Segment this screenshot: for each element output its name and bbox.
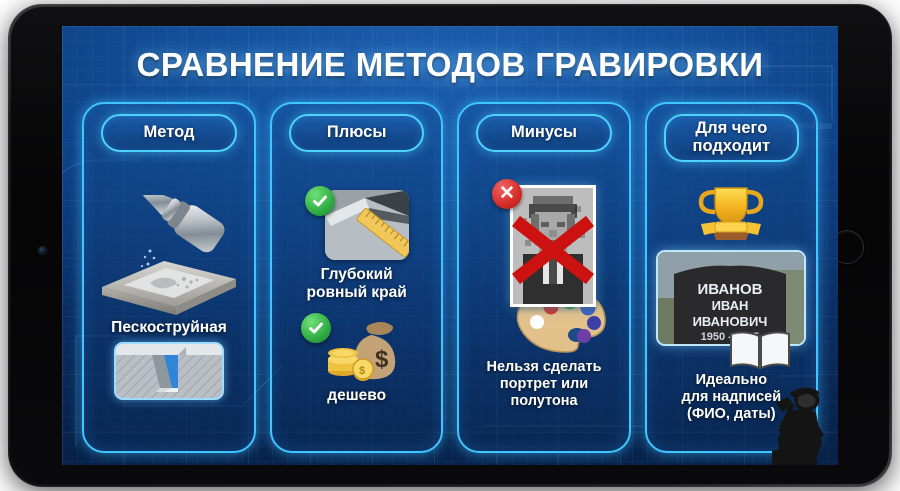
card-method[interactable]: Метод xyxy=(82,102,256,453)
tablet-screen: СРАВНЕНИЕ МЕТОДОВ ГРАВИРОВКИ Метод xyxy=(62,26,838,465)
pro-2-label: дешево xyxy=(327,387,386,405)
svg-text:ИВАНОВИЧ: ИВАНОВИЧ xyxy=(693,314,768,329)
card-body-cons: ✕ xyxy=(465,152,622,443)
card-body-pros: Глубокийровный край $ xyxy=(278,152,435,443)
method-label: Пескоструйная xyxy=(111,319,227,337)
ruler-edge-icon xyxy=(325,190,409,260)
card-header-cons: Минусы xyxy=(476,114,611,152)
pro-1-label: Глубокийровный край xyxy=(307,266,407,303)
camera-dot-icon xyxy=(39,247,46,254)
trophy-icon xyxy=(693,182,769,246)
page-title: СРАВНЕНИЕ МЕТОДОВ ГРАВИРОВКИ xyxy=(62,46,838,84)
svg-text:ИВАН: ИВАН xyxy=(712,298,749,313)
groove-cross-section-icon xyxy=(114,342,224,400)
card-header-best-for: Для чегоподходит xyxy=(664,114,799,162)
stonemason-logo xyxy=(754,373,832,465)
check-icon xyxy=(301,313,331,343)
sandblast-nozzle-icon xyxy=(90,195,248,315)
card-cons[interactable]: Минусы ✕ xyxy=(457,102,630,453)
card-pros[interactable]: Плюсы xyxy=(270,102,443,453)
money-bag-icon: $ xyxy=(325,315,413,381)
svg-text:$: $ xyxy=(375,346,389,373)
svg-text:ИВАНОВ: ИВАНОВ xyxy=(698,281,763,298)
open-book-icon xyxy=(727,328,793,372)
comparison-table: Метод xyxy=(82,102,818,453)
screenshot-root: СРАВНЕНИЕ МЕТОДОВ ГРАВИРОВКИ Метод xyxy=(0,0,900,491)
red-cross-overlay-icon xyxy=(506,213,600,287)
con-1-label: Нельзя сделатьпортрет илиполутона xyxy=(487,359,602,410)
svg-text:$: $ xyxy=(359,365,365,377)
card-body-method: Пескоструйная xyxy=(90,152,248,443)
x-icon: ✕ xyxy=(492,179,522,209)
tablet-device: СРАВНЕНИЕ МЕТОДОВ ГРАВИРОВКИ Метод xyxy=(8,4,892,487)
card-header-method: Метод xyxy=(101,114,237,152)
check-icon xyxy=(305,186,335,216)
card-header-pros: Плюсы xyxy=(289,114,424,152)
